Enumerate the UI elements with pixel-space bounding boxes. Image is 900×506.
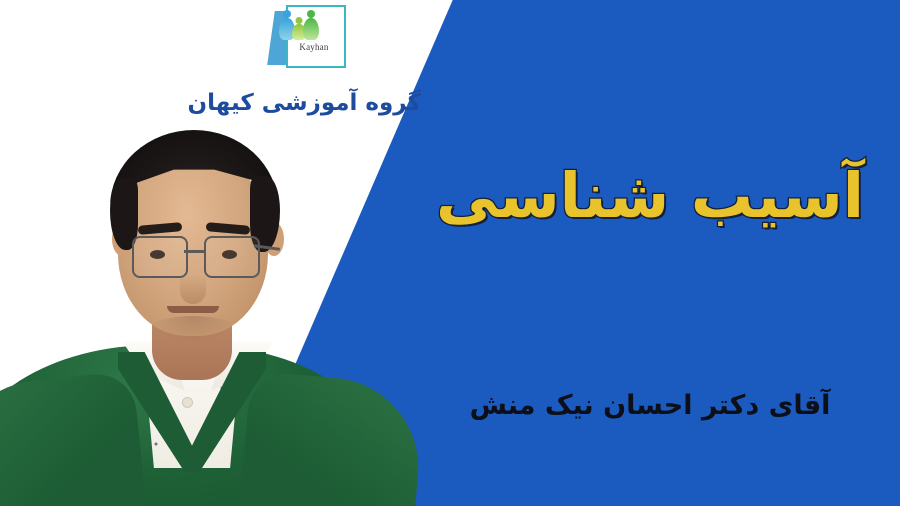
organization-name: گروه آموزشی کیهان bbox=[196, 90, 421, 116]
presenter-name: آقای دکتر احسان نیک منش bbox=[440, 390, 860, 421]
logo-figure-middle-head bbox=[295, 17, 302, 24]
presenter-portrait-figure bbox=[0, 0, 400, 506]
logo-figure-left-head bbox=[283, 10, 291, 18]
nose bbox=[180, 262, 206, 304]
logo-wordmark: Kayhan bbox=[286, 42, 342, 52]
eyeglasses-lens-right bbox=[204, 236, 260, 278]
eyeglasses-bridge bbox=[184, 250, 204, 253]
mouth bbox=[167, 306, 219, 313]
presenter-photo bbox=[0, 0, 400, 506]
logo-people-icon bbox=[270, 6, 365, 40]
logo-figure-right-icon bbox=[302, 10, 319, 40]
presentation-slide: Kayhan گروه آموزشی کیهان آسیب شناسی آقای… bbox=[0, 0, 900, 506]
logo-figure-right-head bbox=[307, 10, 315, 18]
sweater-shoulder-right bbox=[239, 371, 426, 506]
logo-figure-right-body bbox=[303, 18, 319, 40]
sweater-shoulder-left bbox=[0, 370, 147, 506]
slide-title: آسیب شناسی bbox=[430, 160, 870, 231]
shirt-button bbox=[183, 398, 192, 407]
kayhan-logo: Kayhan bbox=[270, 2, 365, 74]
chin-shadow bbox=[150, 316, 236, 342]
